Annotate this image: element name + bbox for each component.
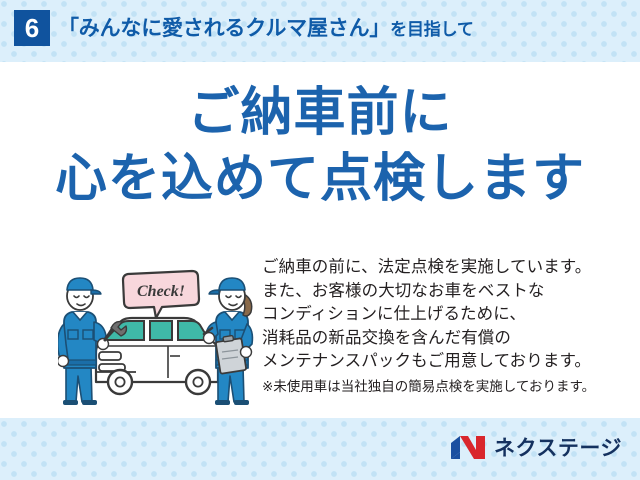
nextage-logo-text: ネクステージ <box>494 432 622 462</box>
page-footer: ネクステージ <box>0 418 640 480</box>
header-title-tail: を目指して <box>390 15 474 40</box>
body-line-5: メンテナンスパックもご用意しております。 <box>262 350 622 374</box>
content-card: ご納車前に 心を込めて点検します ご納車の前に、法定点検を実施しています。 また… <box>0 62 640 418</box>
speech-bubble-text: Check! <box>137 283 185 300</box>
body-copy: ご納車の前に、法定点検を実施しています。 また、お客様の大切なお車をベストな コ… <box>262 256 622 398</box>
body-note: ※未使用車は当社独自の簡易点検を実施しております。 <box>262 376 622 398</box>
check-speech-bubble: Check! <box>123 271 199 318</box>
page-title: ご納車前に 心を込めて点検します <box>0 84 640 208</box>
mechanics-illustration: Check! <box>58 260 258 410</box>
body-line-2: また、お客様の大切なお車をベストな <box>262 280 622 304</box>
nextage-logo: ネクステージ <box>449 430 622 464</box>
page-header: 6 「みんなに愛されるクルマ屋さん」 を目指して <box>0 0 640 62</box>
header-title: 「みんなに愛されるクルマ屋さん」 を目指して <box>58 12 474 46</box>
mechanic-female <box>204 278 253 405</box>
body-line-4: 消耗品の新品交換を含んだ有償の <box>262 327 622 351</box>
headline-line-2: 心を込めて点検します <box>0 150 640 208</box>
body-line-3: コンディションに仕上げるために、 <box>262 303 622 327</box>
header-title-main: 「みんなに愛されるクルマ屋さん」 <box>58 12 390 42</box>
body-line-1: ご納車の前に、法定点検を実施しています。 <box>262 256 622 280</box>
section-number-badge: 6 <box>14 10 50 46</box>
advertisement-page: 6 「みんなに愛されるクルマ屋さん」 を目指して ご納車前に 心を込めて点検しま… <box>0 0 640 480</box>
nextage-n-mark-icon <box>449 434 487 461</box>
headline-line-1: ご納車前に <box>0 84 640 142</box>
